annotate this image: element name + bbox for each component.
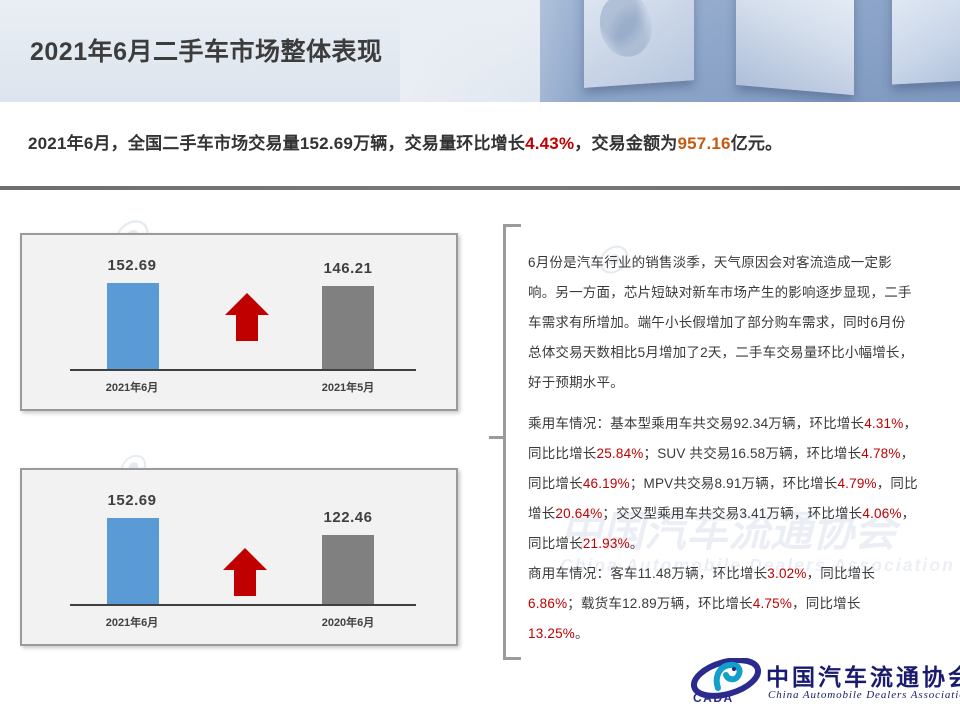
bar-value-label: 152.69 xyxy=(82,492,182,509)
x-axis-line xyxy=(70,369,416,371)
bar-2021-05 xyxy=(322,286,374,369)
truck-yoy: 13.25% xyxy=(528,626,575,641)
mpv-yoy: 20.64% xyxy=(555,506,602,521)
bar-category-label: 2021年6月 xyxy=(82,379,182,395)
svg-text:CADA: CADA xyxy=(693,691,734,704)
truck-mom: 4.75% xyxy=(753,596,792,611)
analysis-paragraph-passenger: 乘用车情况：基本型乘用车共交易92.34万辆，环比增长4.31%，同比比增长25… xyxy=(528,409,918,559)
red-up-arrow-icon xyxy=(222,546,268,598)
bar-2021-06 xyxy=(107,283,159,369)
summary-amount-value: 957.16 xyxy=(677,134,730,153)
decorative-cube xyxy=(584,0,694,88)
commercial-lead-text: 商用车情况：客车11.48万辆，环比增长 xyxy=(528,566,767,581)
analysis-paragraph-commercial: 商用车情况：客车11.48万辆，环比增长3.02%，同比增长6.86%；载货车1… xyxy=(528,559,918,649)
analysis-text-panel: 6月份是汽车行业的销售淡季，天气原因会对客流造成一定影响。另一方面，芯片短缺对新… xyxy=(528,248,918,649)
passenger-text-6: ；交叉型乘用车共交易3.41万辆，环比增长 xyxy=(602,506,862,521)
header-decoration-cubes xyxy=(540,0,960,102)
commercial-text-4: 。 xyxy=(575,626,589,641)
basic-passenger-mom: 4.31% xyxy=(864,416,903,431)
chart-year-on-year: 152.69 2021年6月 122.46 2020年6月 xyxy=(20,468,458,646)
plot-area: 152.69 2021年6月 122.46 2020年6月 xyxy=(22,470,456,644)
suv-yoy: 46.19% xyxy=(583,476,630,491)
suv-mom: 4.78% xyxy=(861,446,900,461)
summary-text-part3: 亿元。 xyxy=(731,134,783,153)
bar-2021-06 xyxy=(107,518,159,604)
bus-mom: 3.02% xyxy=(767,566,806,581)
commercial-text-2: ；载货车12.89万辆，环比增长 xyxy=(567,596,752,611)
bracket-bottom-arm xyxy=(503,657,521,660)
passenger-text-2: ；SUV 共交易16.58万辆，环比增长 xyxy=(644,446,862,461)
world-map-texture xyxy=(600,0,652,59)
bar-value-label: 152.69 xyxy=(82,257,182,274)
bracket-vertical-line xyxy=(503,224,506,660)
passenger-lead-text: 乘用车情况：基本型乘用车共交易92.34万辆，环比增长 xyxy=(528,416,864,431)
x-axis-line xyxy=(70,604,416,606)
basic-passenger-yoy: 25.84% xyxy=(597,446,644,461)
commercial-text-3: ，同比增长 xyxy=(792,596,861,611)
bar-category-label: 2020年6月 xyxy=(298,614,398,630)
summary-mom-growth-value: 4.43% xyxy=(525,134,574,153)
summary-text-part1: 2021年6月，全国二手车市场交易量152.69万辆，交易量环比增长 xyxy=(28,134,525,153)
decorative-cube xyxy=(892,0,960,85)
passenger-text-4: ；MPV共交易8.91万辆，环比增长 xyxy=(630,476,838,491)
bus-yoy: 6.86% xyxy=(528,596,567,611)
page-header: 2021年6月二手车市场整体表现 xyxy=(0,0,960,102)
logo-name-cn: 中国汽车流通协会 xyxy=(766,658,960,692)
bar-value-label: 146.21 xyxy=(298,260,398,277)
bar-category-label: 2021年5月 xyxy=(298,379,398,395)
page-title: 2021年6月二手车市场整体表现 xyxy=(30,32,383,68)
commercial-text-1: ，同比增长 xyxy=(807,566,876,581)
plot-area: 152.69 2021年6月 146.21 2021年5月 xyxy=(22,235,456,409)
paragraph-spacer xyxy=(528,398,918,409)
decorative-cube xyxy=(736,0,854,95)
mpv-mom: 4.79% xyxy=(837,476,876,491)
red-up-arrow-icon xyxy=(224,291,270,343)
left-bracket-connector xyxy=(489,224,515,660)
cada-fish-logo-icon: CADA xyxy=(690,658,762,704)
header-gradient-fade xyxy=(400,0,580,102)
passenger-text-8: 。 xyxy=(630,536,644,551)
cada-logo: CADA 中国汽车流通协会 China Automobile Dealers A… xyxy=(690,656,948,714)
crossover-yoy: 21.93% xyxy=(583,536,630,551)
logo-name-en: China Automobile Dealers Association xyxy=(768,689,960,701)
bracket-top-arm xyxy=(503,224,521,227)
summary-text-part2: ，交易金额为 xyxy=(574,134,677,153)
chart-month-on-month: 152.69 2021年6月 146.21 2021年5月 xyxy=(20,233,458,411)
summary-statement: 2021年6月，全国二手车市场交易量152.69万辆，交易量环比增长4.43%，… xyxy=(28,129,782,154)
bracket-middle-tick xyxy=(489,436,505,439)
bar-2020-06 xyxy=(322,535,374,604)
crossover-mom: 4.06% xyxy=(862,506,901,521)
bar-value-label: 122.46 xyxy=(298,509,398,526)
header-divider xyxy=(0,186,960,190)
analysis-paragraph-overview: 6月份是汽车行业的销售淡季，天气原因会对客流造成一定影响。另一方面，芯片短缺对新… xyxy=(528,248,918,398)
bar-category-label: 2021年6月 xyxy=(82,614,182,630)
